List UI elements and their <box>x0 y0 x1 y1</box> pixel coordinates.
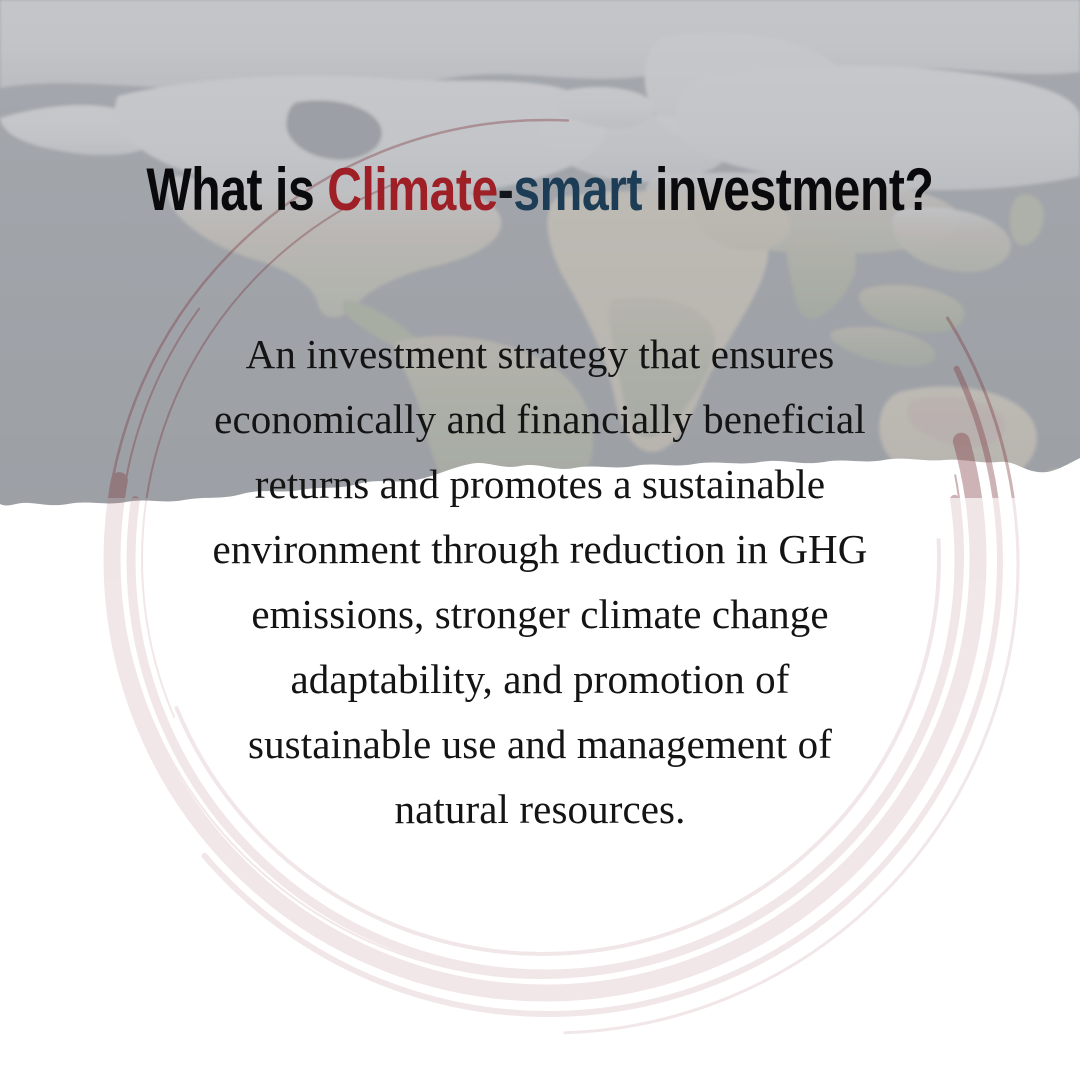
poster-canvas: What is Climate-smart investment? An inv… <box>0 0 1080 1080</box>
page-title: What is Climate-smart investment? <box>0 160 1080 220</box>
title-part-what-is: What is <box>147 156 328 223</box>
title-part-investment: investment? <box>642 156 933 223</box>
title-part-hyphen: - <box>498 156 514 223</box>
title-part-smart: smart <box>514 156 643 223</box>
body-line-6: adaptability, and promotion of <box>160 647 920 712</box>
body-line-5: emissions, stronger climate change <box>160 582 920 647</box>
body-line-4: environment through reduction in GHG <box>160 517 920 582</box>
body-line-7: sustainable use and management of <box>160 712 920 777</box>
title-part-climate: Climate <box>327 156 498 223</box>
body-line-8: natural resources. <box>160 777 920 842</box>
body-line-2: economically and financially beneficial <box>160 387 920 452</box>
title-text: What is Climate-smart investment? <box>147 160 934 220</box>
definition-body: An investment strategy that ensures econ… <box>160 322 920 842</box>
body-line-3: returns and promotes a sustainable <box>160 452 920 517</box>
body-line-1: An investment strategy that ensures <box>160 322 920 387</box>
